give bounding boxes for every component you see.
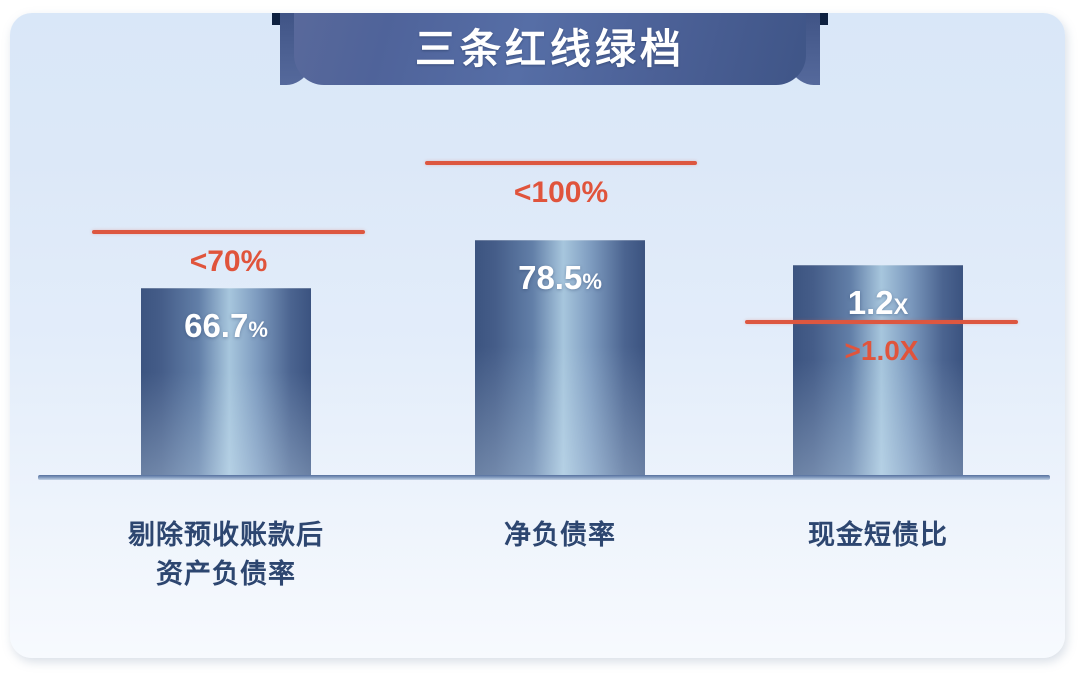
bar-value-number-2: 78.5 bbox=[518, 259, 582, 296]
chart-title: 三条红线绿档 bbox=[272, 15, 828, 75]
screenshot-root: 66.7% <70% 剔除预收账款后 资产负债率 78.5% <100% 净负债… bbox=[0, 0, 1080, 673]
bar-value-unit-2: % bbox=[582, 269, 602, 294]
chart-card: 66.7% <70% 剔除预收账款后 资产负债率 78.5% <100% 净负债… bbox=[10, 13, 1065, 658]
bar-value-number-1: 66.7 bbox=[184, 307, 248, 344]
threshold-line-1 bbox=[92, 230, 365, 234]
bar-value-unit-1: % bbox=[248, 317, 268, 342]
threshold-line-2 bbox=[425, 161, 697, 165]
threshold-label-2: <100% bbox=[425, 176, 697, 210]
bar-value-number-3: 1.2 bbox=[848, 284, 894, 321]
threshold-line-3 bbox=[745, 320, 1018, 324]
bar-value-2: 78.5% bbox=[475, 259, 645, 297]
bar-value-unit-3: X bbox=[894, 294, 909, 319]
title-ribbon: 三条红线绿档 bbox=[272, 13, 828, 91]
category-label-2: 净负债率 bbox=[390, 516, 730, 555]
chart-plot-area: 66.7% <70% 剔除预收账款后 资产负债率 78.5% <100% 净负债… bbox=[10, 13, 1065, 658]
threshold-label-3: >1.0X bbox=[745, 335, 1018, 367]
category-label-1: 剔除预收账款后 资产负债率 bbox=[56, 516, 396, 594]
category-label-3: 现金短债比 bbox=[708, 516, 1048, 555]
threshold-label-1: <70% bbox=[92, 245, 365, 279]
bar-value-3: 1.2X bbox=[793, 284, 963, 322]
bar-value-1: 66.7% bbox=[141, 307, 311, 345]
x-axis-baseline bbox=[38, 475, 1050, 480]
